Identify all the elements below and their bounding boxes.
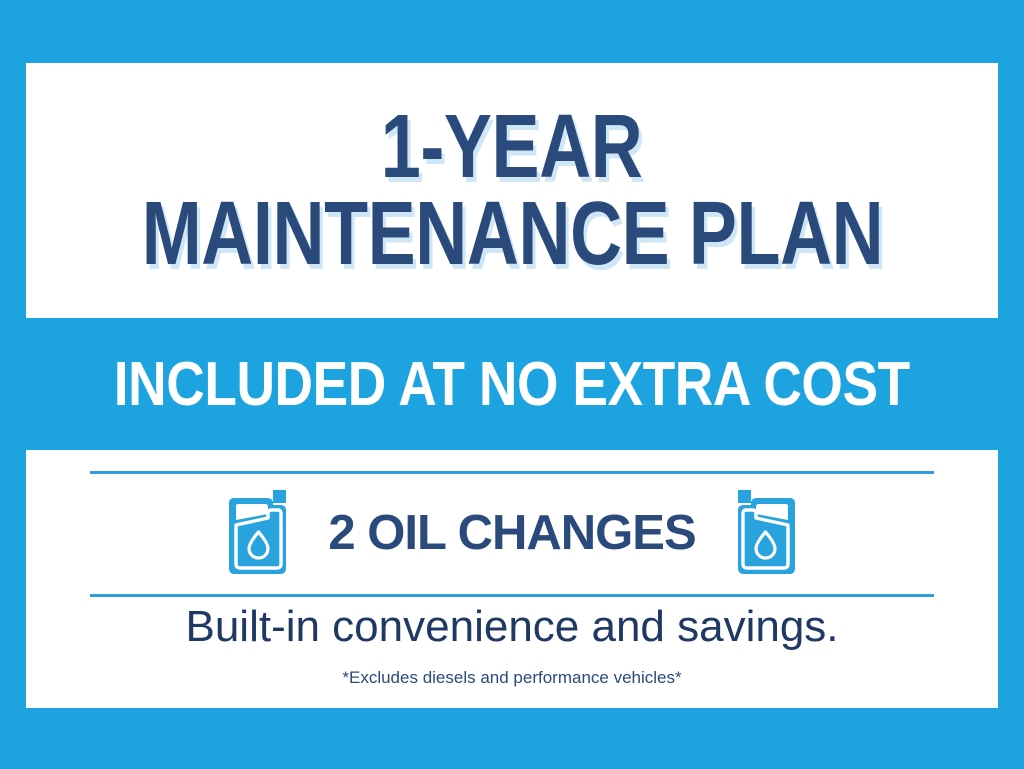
headline-line-2: MAINTENANCE PLAN	[141, 193, 883, 276]
tagline-text: Built-in convenience and savings.	[26, 602, 998, 652]
oil-can-icon-left	[220, 489, 294, 577]
divider-bottom	[90, 594, 934, 597]
offer-label: 2 OIL CHANGES	[328, 505, 695, 561]
disclaimer-text: *Excludes diesels and performance vehicl…	[26, 668, 998, 688]
subheadline-text: INCLUDED AT NO EXTRA COST	[114, 349, 910, 420]
promo-poster: 1-YEAR MAINTENANCE PLAN INCLUDED AT NO E…	[0, 0, 1024, 769]
headline-line-1: 1-YEAR	[381, 106, 643, 189]
subheadline-band: INCLUDED AT NO EXTRA COST	[0, 318, 1024, 450]
headline-card: 1-YEAR MAINTENANCE PLAN	[26, 63, 998, 318]
offer-row: 2 OIL CHANGES	[26, 471, 998, 594]
details-card: 2 OIL CHANGES Built-in convenience and s…	[26, 450, 998, 708]
oil-can-icon-right	[730, 489, 804, 577]
